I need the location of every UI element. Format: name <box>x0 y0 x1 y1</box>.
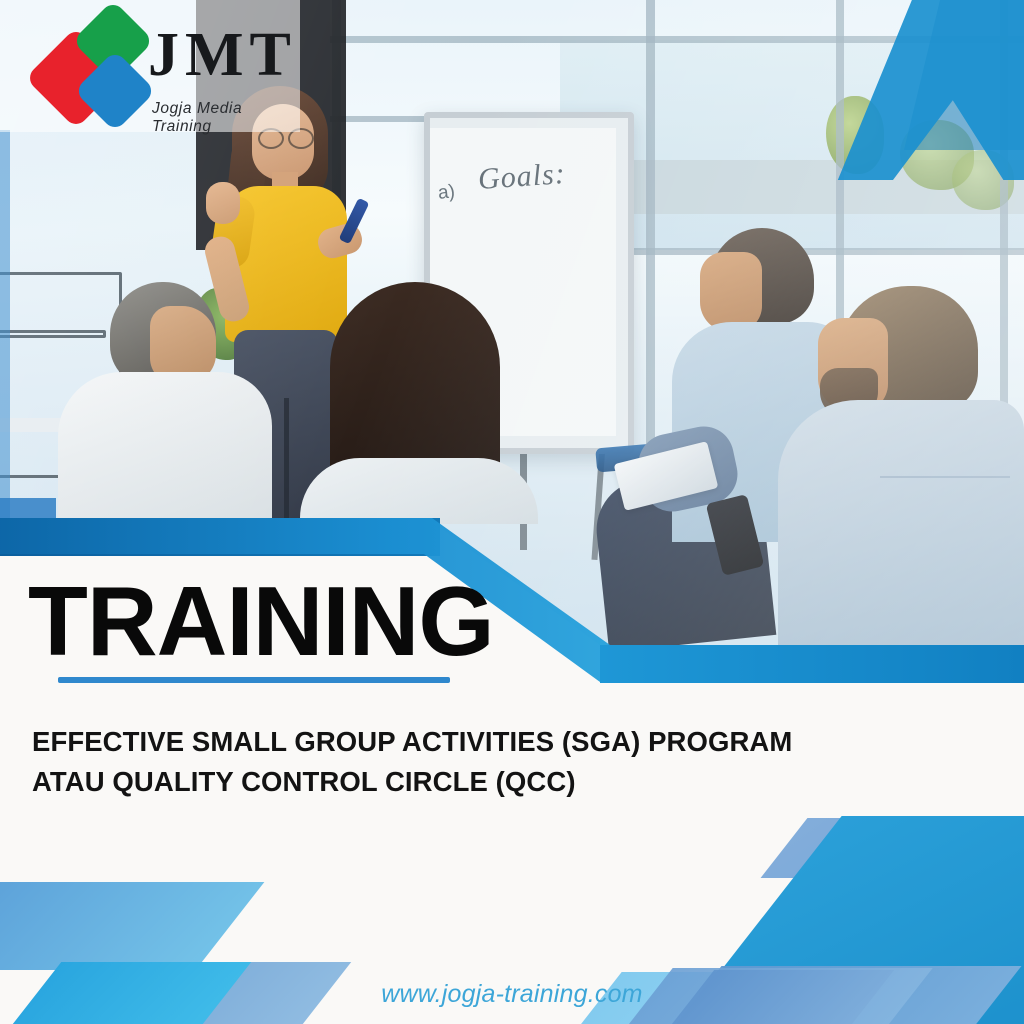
title-underline-rule <box>58 677 450 683</box>
left-edge-accent-bar <box>0 130 10 520</box>
subtitle-line-2: ATAU QUALITY CONTROL CIRCLE (QCC) <box>32 762 932 802</box>
training-poster: Goals: a) <box>0 0 1024 1024</box>
page-title: TRAINING <box>28 572 494 670</box>
brand-logo[interactable]: JMT Jogja Media Training <box>18 14 290 126</box>
subtitle-block: EFFECTIVE SMALL GROUP ACTIVITIES (SGA) P… <box>32 722 932 802</box>
bottom-left-parallelogram-1 <box>0 882 264 970</box>
website-url[interactable]: www.jogja-training.com <box>0 980 1024 1009</box>
subtitle-line-1: EFFECTIVE SMALL GROUP ACTIVITIES (SGA) P… <box>32 722 932 762</box>
logo-wordmark: JMT <box>148 24 297 86</box>
blue-band-lower-right <box>600 645 1024 683</box>
logo-tagline: Jogja Media Training <box>152 100 290 136</box>
